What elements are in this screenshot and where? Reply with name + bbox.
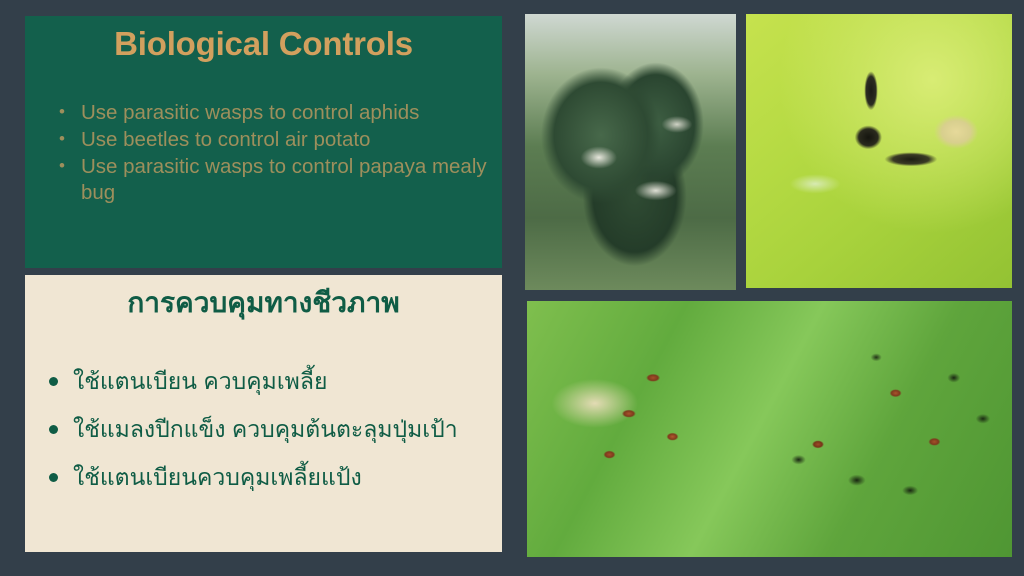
list-item: ใช้แตนเบียนควบคุมเพลี้ยแป้ง xyxy=(47,453,492,501)
bullet-dot-icon xyxy=(49,425,58,434)
parasitic-wasp-photo xyxy=(746,14,1012,288)
papaya-mealybug-photo xyxy=(525,14,736,290)
english-content-panel: Biological Controls Use parasitic wasps … xyxy=(25,16,502,268)
thai-bullet-list: ใช้แตนเบียน ควบคุมเพลี้ย ใช้แมลงปีกแข็ง … xyxy=(35,357,492,501)
page-title: Biological Controls xyxy=(39,22,488,66)
list-item: Use parasitic wasps to control aphids xyxy=(57,100,488,126)
bullet-dot-icon xyxy=(49,377,58,386)
list-item-label: ใช้แตนเบียนควบคุมเพลี้ยแป้ง xyxy=(73,464,362,490)
bullet-dot-icon xyxy=(49,473,58,482)
thai-page-title: การควบคุมทางชีวภาพ xyxy=(35,283,492,323)
beetle-damaged-leaves-photo xyxy=(527,301,1012,557)
list-item: ใช้แตนเบียน ควบคุมเพลี้ย xyxy=(47,357,492,405)
list-item: Use parasitic wasps to control papaya me… xyxy=(57,154,488,206)
list-item: ใช้แมลงปีกแข็ง ควบคุมต้นตะลุมปุ่มเป้า xyxy=(47,405,492,453)
thai-content-panel: การควบคุมทางชีวภาพ ใช้แตนเบียน ควบคุมเพล… xyxy=(25,275,502,552)
english-bullet-list: Use parasitic wasps to control aphids Us… xyxy=(39,100,488,206)
list-item-label: ใช้แมลงปีกแข็ง ควบคุมต้นตะลุมปุ่มเป้า xyxy=(73,416,458,442)
list-item: Use beetles to control air potato xyxy=(57,127,488,153)
list-item-label: ใช้แตนเบียน ควบคุมเพลี้ย xyxy=(73,368,327,394)
